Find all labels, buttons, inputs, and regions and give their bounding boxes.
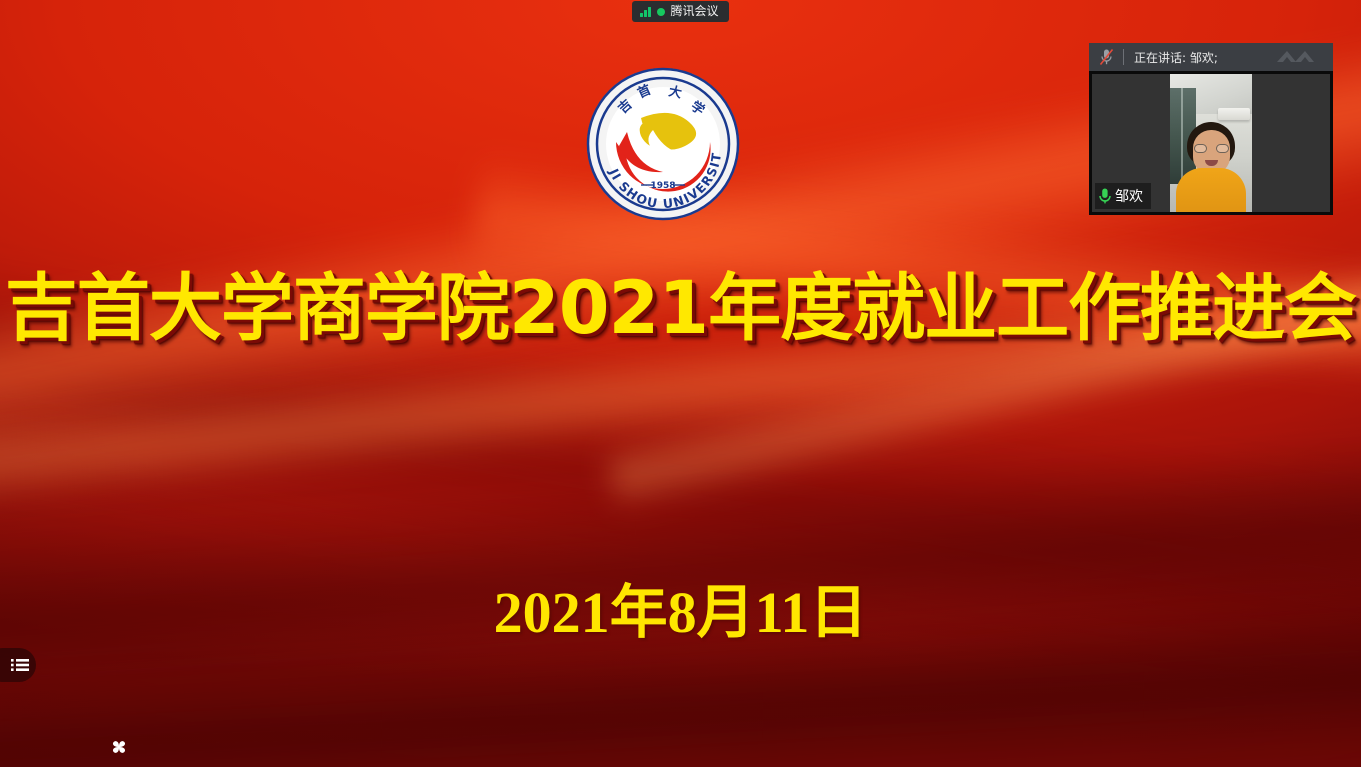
screen: 吉 首 大 学 JI SHOU UNIVERSITY 1958 吉首大学商学院2… [0, 0, 1361, 767]
video-panel-body: 邹欢 [1089, 71, 1333, 215]
tencent-meeting-logo-icon [1269, 47, 1327, 67]
signal-bars-icon [640, 7, 651, 17]
glasses-icon [1194, 144, 1229, 153]
video-tile[interactable]: 邹欢 [1092, 74, 1330, 212]
slide-main-title: 吉首大学商学院2021年度就业工作推进会 [0, 266, 1361, 352]
status-dot-icon [657, 8, 665, 16]
university-logo-svg: 吉 首 大 学 JI SHOU UNIVERSITY 1958 [583, 64, 743, 224]
speaking-status-label: 正在讲话: 邹欢; [1134, 49, 1218, 66]
participant-camera-feed [1170, 74, 1252, 212]
video-panel[interactable]: 正在讲话: 邹欢; [1089, 43, 1333, 215]
svg-text:1958: 1958 [650, 181, 675, 191]
outline-panel-button[interactable] [0, 648, 36, 682]
meeting-app-label: 腾讯会议 [671, 1, 719, 22]
air-conditioner [1218, 108, 1250, 120]
microphone-on-icon [1098, 187, 1112, 205]
participant-name-badge: 邹欢 [1095, 183, 1151, 209]
slide-date: 2021年8月11日 [0, 578, 1361, 648]
person-shirt [1176, 168, 1246, 212]
outline-list-icon [11, 658, 29, 672]
header-divider [1123, 49, 1124, 65]
participant-name: 邹欢 [1115, 186, 1143, 206]
meeting-status-pill[interactable]: 腾讯会议 [632, 1, 729, 22]
video-panel-header: 正在讲话: 邹欢; [1089, 43, 1333, 71]
microphone-muted-icon [1093, 48, 1119, 66]
jishou-university-logo: 吉 首 大 学 JI SHOU UNIVERSITY 1958 [583, 64, 743, 224]
pinwheel-logo-icon [108, 736, 130, 758]
